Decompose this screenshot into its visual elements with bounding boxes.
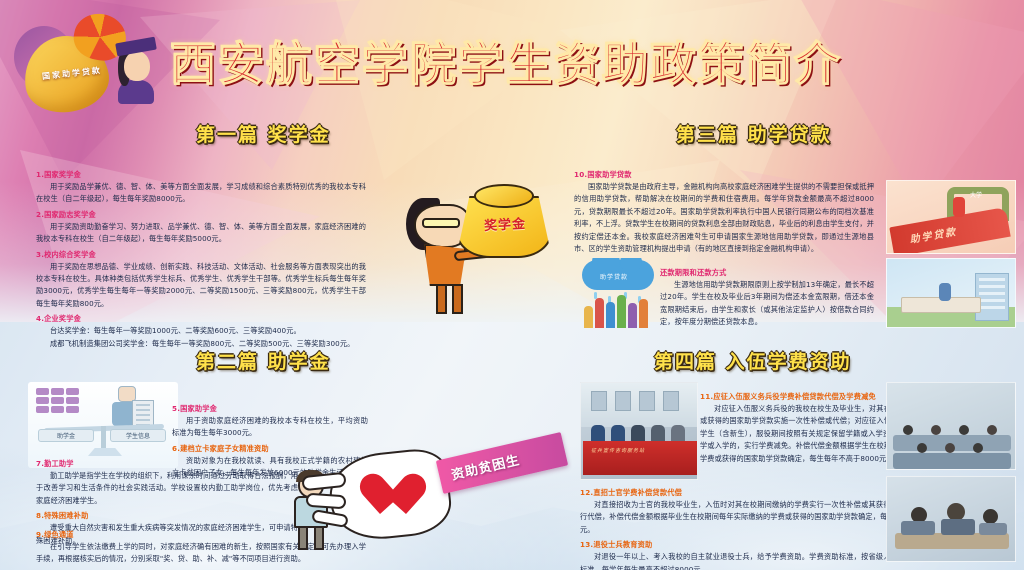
item-body: 勤工助学是指学生在学校的组织下，利用课余时间通过劳动取得合法报酬，用于改善学习和… xyxy=(36,470,298,507)
cloud-icon: 助学贷款 xyxy=(582,260,654,290)
officer-figure xyxy=(106,386,148,430)
office-consult-photo xyxy=(886,476,1016,562)
bank-city-illustration xyxy=(886,258,1016,328)
scale-pan-left: 助学金 xyxy=(38,429,94,442)
character-leg xyxy=(436,284,447,314)
section-title-scholarship: 第一篇 奖学金 xyxy=(196,120,331,147)
item-head: 还款期限和还款方式 xyxy=(660,267,874,279)
gate-label: 大学 xyxy=(970,190,982,199)
section1-text-panel: 1.国家奖学金 用于奖励品学兼优、德、智、体、美等方面全面发展，学习成绩和综合素… xyxy=(36,166,366,350)
heart-balloon-emblem: 国家助学贷款 xyxy=(18,6,178,112)
item-head: 4.企业奖学金 xyxy=(36,313,366,325)
student-figure xyxy=(939,283,951,301)
item-head: 1.国家奖学金 xyxy=(36,169,366,181)
item-head: 10.国家助学贷款 xyxy=(574,169,874,181)
gold-ingot-top xyxy=(474,184,534,208)
bridge-label: 助学贷款 xyxy=(908,223,958,246)
heart-icon xyxy=(380,476,426,516)
character-leg xyxy=(452,284,463,314)
item-head: 5.国家助学金 xyxy=(172,403,368,415)
bridge-to-university-illustration: 大学 助学贷款 xyxy=(886,180,1016,254)
classroom-photo xyxy=(886,382,1016,470)
helping-hand-illustration: 资助贫困生 xyxy=(272,422,572,570)
hand-icon xyxy=(628,303,637,328)
ingot-scholarship-illustration: 奖学金 xyxy=(398,178,568,318)
aid-banner: 资助贫困生 xyxy=(436,432,568,494)
hand-icon xyxy=(606,302,615,328)
hand-icon xyxy=(639,299,648,328)
page-title: 西安航空学院学生资助政策简介 xyxy=(170,28,1010,94)
hand-icon xyxy=(584,306,593,328)
section-title-grant: 第二篇 助学金 xyxy=(196,347,331,374)
poster-header: 国家助学贷款 西安航空学院学生资助政策简介 xyxy=(0,0,1024,112)
section3-repayment-panel: 还款期限和还款方式 生源地信用助学贷款期限原则上按学制加13年确定，最长不超过2… xyxy=(660,264,874,329)
item-body: 用于奖励资助勤奋学习、努力进取、品学兼优、德、智、体、美等方面全面发展，家庭经济… xyxy=(36,221,366,246)
item-body: 用于奖励在思想品德、学业成绩、创新实践、科技活动、文体活动、社会服务等方面表现突… xyxy=(36,261,366,311)
item-body: 成都飞机制造集团公司奖学金：每生每年一等奖励800元、二等奖励500元、三等奖励… xyxy=(36,338,366,350)
glasses-icon xyxy=(422,218,460,228)
hand-icon xyxy=(595,298,604,328)
item-head: 3.校内综合奖学金 xyxy=(36,249,366,261)
scale-pan-right: 学生信息 xyxy=(110,429,166,442)
item-body: 国家助学贷款是由政府主导，金融机构向高校家庭经济困难学生提供的不需要担保或抵押的… xyxy=(574,181,874,255)
ingot-label: 奖学金 xyxy=(484,213,527,234)
cloud-label: 助学贷款 xyxy=(600,272,628,281)
item-head: 7.勤工助学 xyxy=(36,458,298,470)
item-body: 台达奖学金：每生每年一等奖励1000元、二等奖励600元、三等奖励400元。 xyxy=(36,325,366,337)
student-figure xyxy=(953,197,965,217)
item-head: 2.国家励志奖学金 xyxy=(36,209,366,221)
hall-banner-label: 征兵宣传咨询服务站 xyxy=(591,447,645,454)
cloud-hands-illustration: 助学贷款 xyxy=(578,258,662,328)
banner-table: 征兵宣传咨询服务站 xyxy=(583,441,697,475)
section-title-loan: 第三篇 助学贷款 xyxy=(676,120,832,147)
section-title-military: 第四篇 入伍学费资助 xyxy=(654,347,852,374)
item-body: 用于奖励品学兼优、德、智、体、美等方面全面发展，学习成绩和综合素质特别优秀的我校… xyxy=(36,181,366,206)
aid-banner-label: 资助贫困生 xyxy=(449,449,521,483)
item-head: 8.特殊困难补助 xyxy=(36,510,298,522)
recruitment-booth-photo: 征兵宣传咨询服务站 xyxy=(580,382,698,480)
document-icon xyxy=(132,400,154,426)
scale-right-label: 学生信息 xyxy=(126,431,150,440)
item-body: 生源地信用助学贷款期限原则上按学制加13年确定，最长不超过20年。学生在校及毕业… xyxy=(660,279,874,329)
poster-canvas: 国家助学贷款 西安航空学院学生资助政策简介 第一篇 奖学金 第二篇 助学金 第三… xyxy=(0,0,1024,570)
scale-left-label: 助学金 xyxy=(57,431,75,440)
coin-stack-icon xyxy=(36,388,84,422)
graduate-student-illustration xyxy=(114,40,162,102)
section3-text-panel: 10.国家助学贷款 国家助学贷款是由政府主导，金融机构向高校家庭经济困难学生提供… xyxy=(574,166,874,255)
hand-icon xyxy=(617,295,626,328)
